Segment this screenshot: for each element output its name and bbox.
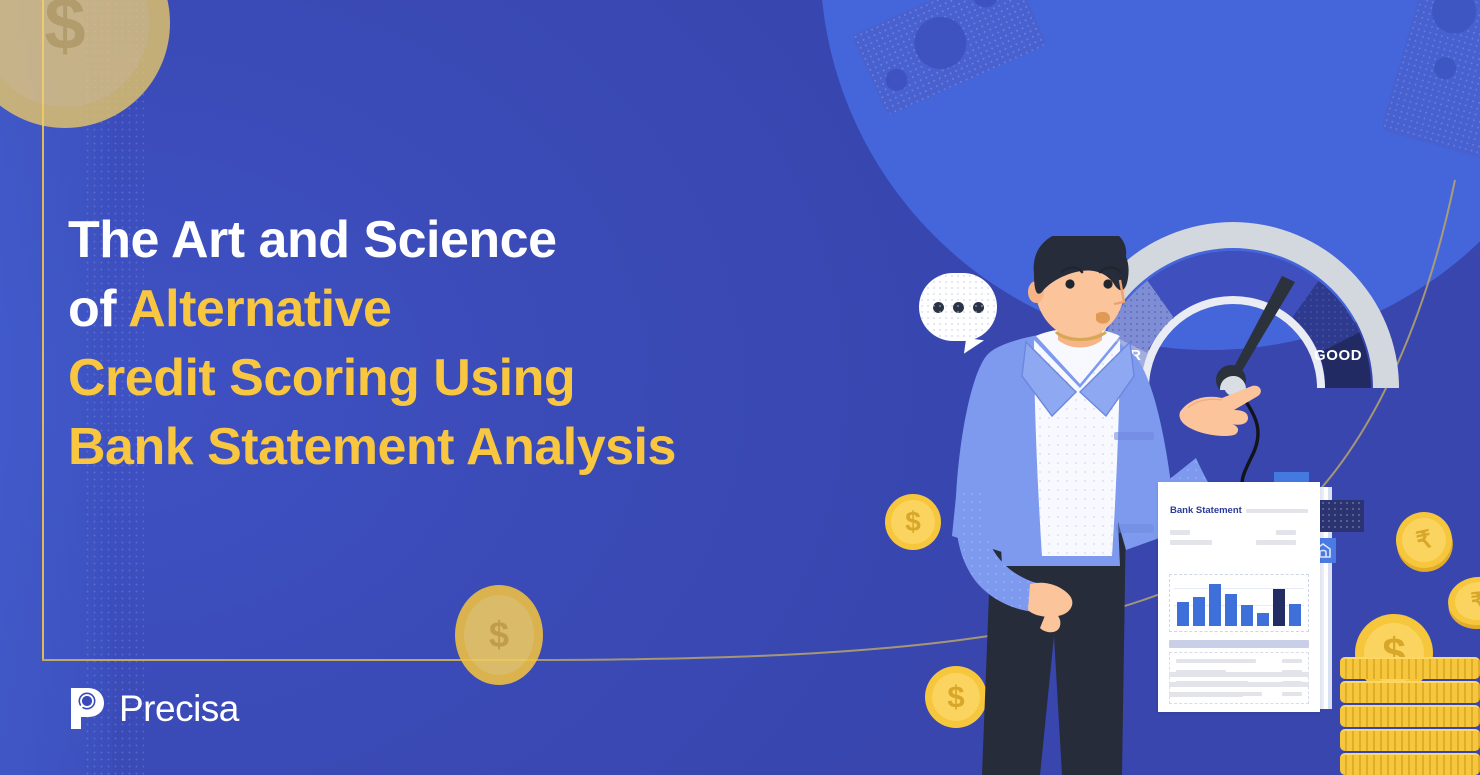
- statement-row-amount: [1282, 659, 1302, 663]
- title-line-2: of Alternative: [68, 275, 858, 344]
- statement-title: Bank Statement: [1170, 505, 1242, 516]
- coin-stack-layer: [1340, 657, 1480, 679]
- statement-meta-line: [1170, 540, 1212, 545]
- statement-row-amount: [1282, 692, 1302, 696]
- chart-bar: [1177, 602, 1189, 626]
- chart-bar: [1289, 604, 1301, 626]
- title-segment: of: [68, 280, 128, 338]
- coin-stack-layer: [1340, 753, 1480, 775]
- statement-meta-line: [1170, 530, 1190, 535]
- coin-center: $: [455, 585, 543, 685]
- statement-meta-line: [1276, 530, 1296, 535]
- coin-stack-layer: [1340, 681, 1480, 703]
- coin-stack-layer: [1340, 705, 1480, 727]
- chart-bars: [1177, 578, 1301, 626]
- title-segment-accent: Bank Statement Analysis: [68, 418, 676, 476]
- title-segment-accent: Alternative: [128, 280, 391, 338]
- coin-stack-layer: [1340, 729, 1480, 751]
- brand-name: Precisa: [119, 688, 239, 730]
- bubble-texture: [919, 273, 997, 341]
- statement-meta-line: [1256, 540, 1296, 545]
- title-line-1: The Art and Science: [68, 206, 858, 275]
- chart-bar: [1241, 605, 1253, 626]
- statement-row-line: [1176, 659, 1256, 663]
- brand-logo[interactable]: Precisa: [68, 686, 239, 731]
- statement-footer-line: [1169, 692, 1243, 697]
- title-segment-accent: Credit Scoring Using: [68, 349, 575, 407]
- navy-tab-texture: [1320, 500, 1364, 532]
- chart-bar: [1225, 594, 1237, 626]
- coin-dollar-glyph: $: [464, 595, 534, 675]
- typing-speech-bubble: [919, 273, 997, 341]
- coin-dollar-glyph: $: [891, 500, 935, 544]
- statement-navy-tab: [1320, 500, 1364, 532]
- chart-bar: [1193, 597, 1205, 626]
- gauge-label-good: GOOD: [1314, 347, 1362, 364]
- hero-banner: $ $ $ $: [0, 0, 1480, 775]
- statement-header-line: [1246, 509, 1308, 513]
- precisa-magnifier-p-logo-icon: [68, 686, 106, 731]
- coin-dollar-glyph: $: [0, 0, 149, 107]
- pointing-hand: [1178, 378, 1268, 448]
- statement-footer-line: [1169, 682, 1309, 687]
- statement-footer-line: [1169, 672, 1309, 677]
- title-line-3: Credit Scoring Using: [68, 344, 858, 413]
- bank-statement-card: Bank Statement: [1158, 482, 1320, 712]
- chart-bar: [1257, 613, 1269, 626]
- chart-bar: [1209, 584, 1221, 626]
- statement-section-header: [1169, 640, 1309, 648]
- title-line-4: Bank Statement Analysis: [68, 413, 858, 482]
- statement-bar-chart: [1169, 574, 1309, 632]
- coin-stack: [1340, 645, 1480, 775]
- title-segment: The Art and Science: [68, 211, 557, 269]
- page-title: The Art and Science of Alternative Credi…: [68, 206, 858, 482]
- chart-bar-highlight: [1273, 589, 1285, 626]
